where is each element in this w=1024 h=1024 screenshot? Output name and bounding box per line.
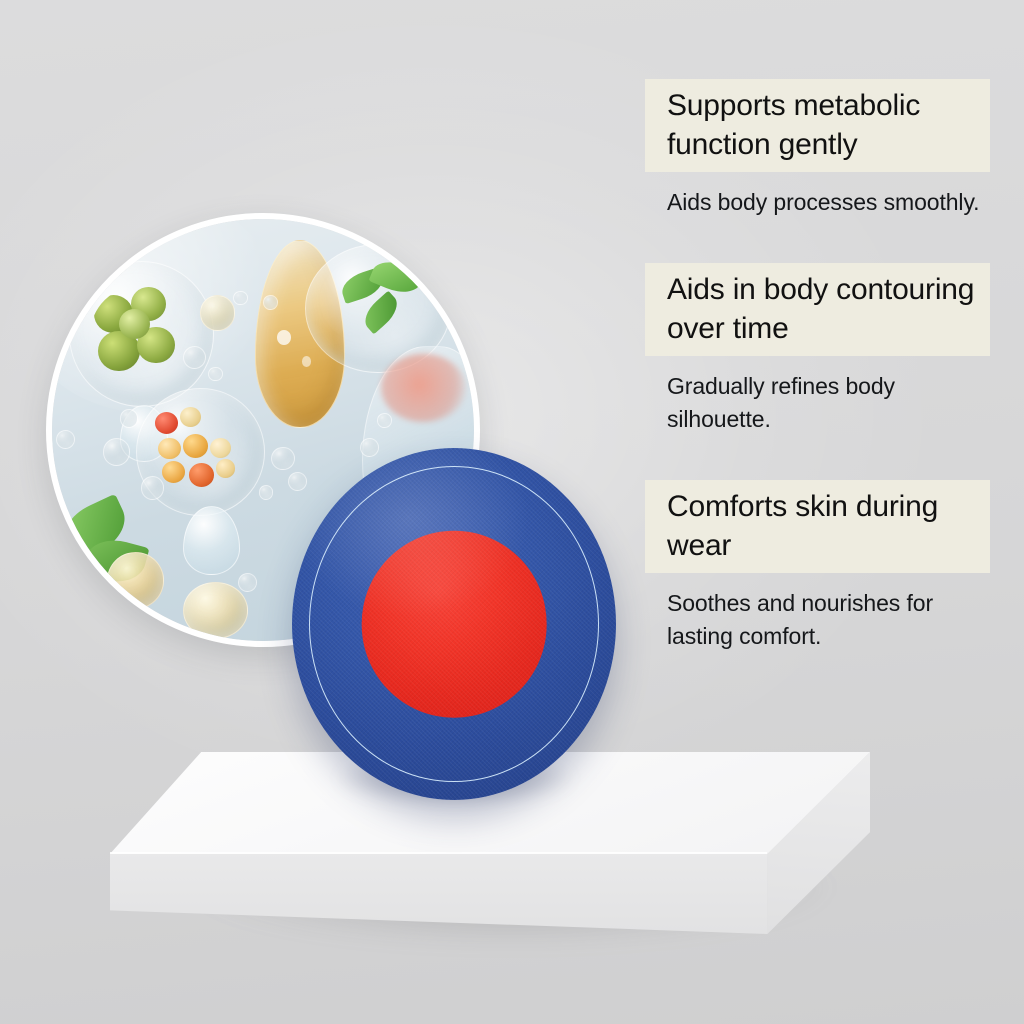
benefit-item: Aids in body contouring over time Gradua…	[645, 263, 990, 436]
water-droplet	[56, 430, 75, 449]
microbead-amber	[183, 434, 208, 458]
algae-bubble	[69, 261, 214, 406]
benefit-item: Comforts skin during wear Soothes and no…	[645, 480, 990, 653]
water-droplet	[259, 485, 274, 500]
benefit-description: Aids body processes smoothly.	[667, 186, 987, 219]
coral-cluster	[381, 354, 465, 422]
microbead-cream	[210, 438, 231, 458]
microbead-red	[155, 412, 178, 434]
benefit-item: Supports metabolic function gently Aids …	[645, 79, 990, 219]
benefit-description: Soothes and nourishes for lasting comfor…	[667, 587, 987, 653]
podium-top-edge-highlight	[110, 852, 767, 854]
benefit-title: Comforts skin during wear	[645, 480, 990, 573]
benefits-list: Supports metabolic function gently Aids …	[645, 79, 990, 653]
water-droplet	[183, 506, 240, 576]
golden-bubble	[107, 552, 164, 609]
green-leaf	[369, 255, 425, 299]
water-droplet	[120, 409, 139, 428]
microbead-amber	[203, 414, 226, 436]
microbead-cream	[216, 459, 235, 477]
benefit-description: Gradually refines body silhouette.	[667, 370, 987, 436]
golden-bubble	[183, 582, 248, 639]
microbead-cluster	[153, 407, 249, 498]
droplet-highlight	[277, 330, 291, 345]
water-droplet	[263, 295, 278, 310]
algae-cluster	[90, 285, 193, 385]
microbead-amber	[158, 438, 181, 460]
golden-bubble	[200, 295, 236, 331]
product-disc	[292, 448, 616, 800]
algae-bead	[119, 309, 150, 339]
microbead-orange	[189, 463, 214, 487]
benefit-title: Aids in body contouring over time	[645, 263, 990, 356]
infographic-canvas: Supports metabolic function gently Aids …	[0, 0, 1024, 1024]
water-droplet	[377, 413, 392, 428]
water-droplet	[103, 438, 130, 465]
disc-gloss-highlight	[292, 448, 616, 800]
water-droplet	[208, 367, 223, 382]
water-droplet	[183, 346, 206, 369]
benefit-title: Supports metabolic function gently	[645, 79, 990, 172]
microbead-cream	[180, 407, 201, 427]
microbead-amber	[162, 461, 185, 483]
water-droplet	[238, 573, 257, 592]
droplet-highlight	[302, 356, 312, 367]
water-droplet	[141, 476, 164, 499]
